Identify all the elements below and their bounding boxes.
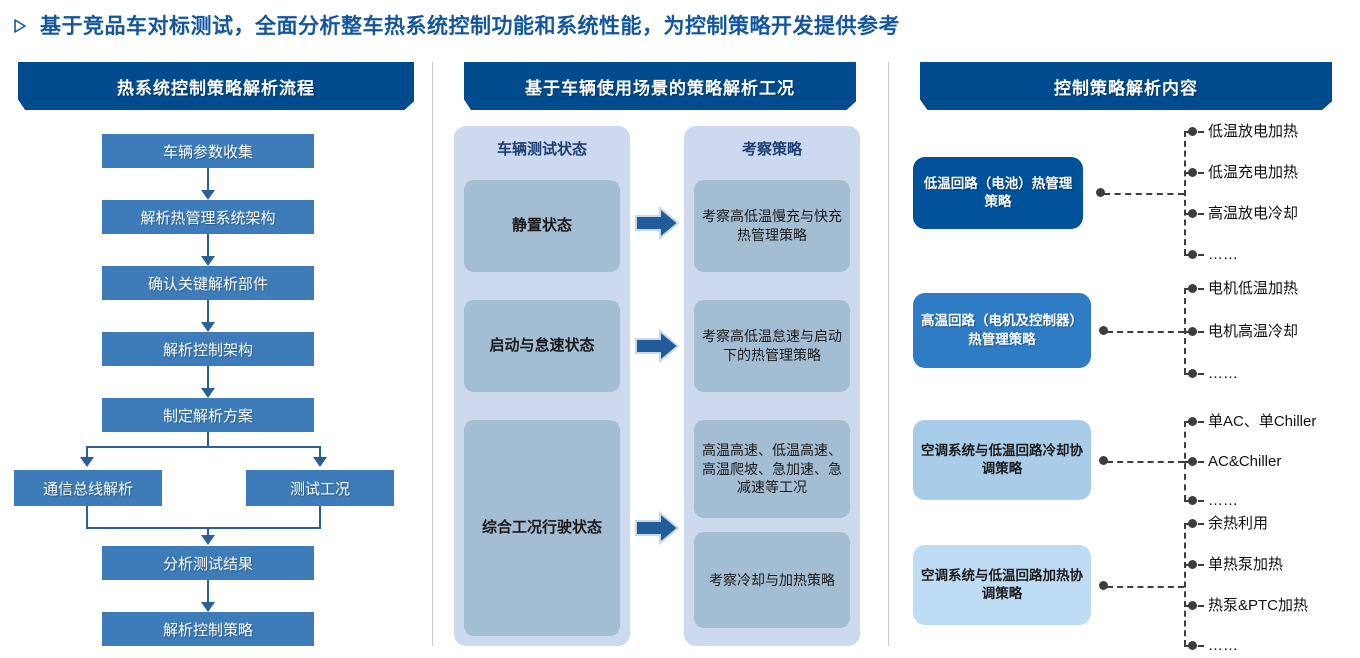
strategy-cell-1-1-label: 考察高低温慢充与快充热管理策略 bbox=[702, 207, 842, 245]
flow-step-5[interactable]: 制定解析方案 bbox=[102, 398, 314, 432]
strategy-node-3-leafdot-2 bbox=[1188, 457, 1197, 466]
flow-step-2[interactable]: 解析热管理系统架构 bbox=[102, 200, 314, 234]
strategy-leaf-4-3: 热泵&PTC加热 bbox=[1208, 598, 1308, 613]
block-arrow-right-icon-2 bbox=[634, 328, 680, 369]
strategy-leaf-4-1: 余热利用 bbox=[1208, 516, 1268, 531]
strategy-leaf-2-1: 电机低温加热 bbox=[1208, 281, 1298, 296]
flow-step-2-label: 解析热管理系统架构 bbox=[140, 207, 275, 228]
strategy-node-3-leafdot-3 bbox=[1188, 496, 1197, 505]
strategy-leaf-3-2: AC&Chiller bbox=[1208, 454, 1281, 469]
divider-middle-right bbox=[888, 62, 889, 646]
flow-tail-1-label: 分析测试结果 bbox=[163, 553, 253, 574]
flow-merge-bar bbox=[86, 527, 321, 529]
state-cell-1[interactable]: 静置状态 bbox=[464, 180, 620, 272]
state-cell-2[interactable]: 启动与怠速状态 bbox=[464, 300, 620, 392]
strategy-cell-3-2-label: 考察冷却与加热策略 bbox=[709, 571, 835, 590]
flow-branch-1-label: 通信总线解析 bbox=[43, 478, 133, 499]
flow-merge-right bbox=[319, 506, 321, 528]
strategy-node-3-stem bbox=[1107, 461, 1184, 463]
strategy-node-2-stem bbox=[1107, 331, 1184, 333]
strategy-leaf-1-2: 低温充电加热 bbox=[1208, 165, 1298, 180]
strategy-node-1-leafdot-4 bbox=[1188, 250, 1197, 259]
strategy-node-1-leafdot-3 bbox=[1188, 209, 1197, 218]
strategy-node-1-label: 低温回路（电池）热管理策略 bbox=[921, 175, 1075, 211]
strategy-leaf-4-4: …… bbox=[1208, 638, 1238, 653]
flow-step-1[interactable]: 车辆参数收集 bbox=[102, 134, 314, 168]
strategy-node-4-spine bbox=[1184, 523, 1186, 646]
flow-arrowhead-right bbox=[313, 457, 327, 467]
strategy-cell-2-1[interactable]: 考察高低温怠速与启动下的热管理策略 bbox=[694, 300, 850, 392]
strategy-node-1[interactable]: 低温回路（电池）热管理策略 bbox=[913, 157, 1083, 229]
strategy-leaf-1-1: 低温放电加热 bbox=[1208, 124, 1298, 139]
state-cell-3-label: 综合工况行驶状态 bbox=[482, 518, 602, 538]
strategy-cell-3-1-label: 高温高速、低温高速、高温爬坡、急加速、急减速等工况 bbox=[702, 441, 842, 498]
divider-left-middle bbox=[432, 62, 433, 646]
left-column-banner: 热系统控制策略解析流程 bbox=[18, 62, 414, 110]
strategy-panel-header: 考察策略 bbox=[684, 138, 860, 159]
strategy-node-2-leafdot-1 bbox=[1188, 284, 1197, 293]
strategy-leaf-2-2: 电机高温冷却 bbox=[1208, 324, 1298, 339]
strategy-cell-2-1-label: 考察高低温怠速与启动下的热管理策略 bbox=[702, 327, 842, 365]
arrow-bullet-icon bbox=[12, 17, 30, 35]
strategy-leaf-4-2: 单热泵加热 bbox=[1208, 557, 1283, 572]
flow-step-5-label: 制定解析方案 bbox=[163, 405, 253, 426]
strategy-node-2[interactable]: 高温回路（电机及控制器）热管理策略 bbox=[913, 293, 1091, 368]
right-banner-text: 控制策略解析内容 bbox=[1054, 74, 1198, 99]
flow-arrowhead-3 bbox=[201, 322, 215, 332]
strategy-node-1-leafdot-1 bbox=[1188, 127, 1197, 136]
strategy-leaf-2-3: …… bbox=[1208, 366, 1238, 381]
flow-step-3-label: 确认关键解析部件 bbox=[148, 273, 268, 294]
state-cell-3[interactable]: 综合工况行驶状态 bbox=[464, 420, 620, 636]
right-column-banner: 控制策略解析内容 bbox=[920, 62, 1332, 110]
strategy-node-4[interactable]: 空调系统与低温回路加热协调策略 bbox=[913, 545, 1091, 625]
flow-arrowhead-5 bbox=[201, 602, 215, 612]
flow-arrowhead-1 bbox=[201, 190, 215, 200]
strategy-node-2-leafdot-3 bbox=[1188, 369, 1197, 378]
flow-tail-2-label: 解析控制策略 bbox=[163, 619, 253, 640]
strategy-node-1-leafdot-2 bbox=[1188, 168, 1197, 177]
middle-column-banner: 基于车辆使用场景的策略解析工况 bbox=[464, 62, 856, 110]
strategy-node-2-leafdot-2 bbox=[1188, 327, 1197, 336]
strategy-node-2-label: 高温回路（电机及控制器）热管理策略 bbox=[921, 312, 1083, 348]
flow-step-4-label: 解析控制架构 bbox=[163, 339, 253, 360]
strategy-node-4-leafdot-4 bbox=[1188, 641, 1197, 650]
flow-step-1-label: 车辆参数收集 bbox=[163, 141, 253, 162]
page-title-text: 基于竞品车对标测试，全面分析整车热系统控制功能和系统性能，为控制策略开发提供参考 bbox=[40, 10, 900, 40]
flow-arrowhead-4 bbox=[201, 388, 215, 398]
state-cell-2-label: 启动与怠速状态 bbox=[489, 336, 594, 356]
flow-merge-left bbox=[86, 506, 88, 528]
flow-tail-1[interactable]: 分析测试结果 bbox=[102, 546, 314, 580]
strategy-leaf-1-4: …… bbox=[1208, 247, 1238, 262]
state-cell-1-label: 静置状态 bbox=[512, 216, 572, 236]
strategy-node-3-label: 空调系统与低温回路冷却协调策略 bbox=[921, 442, 1083, 478]
strategy-cell-3-1[interactable]: 高温高速、低温高速、高温爬坡、急加速、急减速等工况 bbox=[694, 420, 850, 518]
block-arrow-right-icon-3 bbox=[634, 510, 680, 551]
page-title: 基于竞品车对标测试，全面分析整车热系统控制功能和系统性能，为控制策略开发提供参考 bbox=[12, 6, 1352, 44]
strategy-leaf-3-1: 单AC、单Chiller bbox=[1208, 414, 1316, 429]
strategy-node-4-leafdot-1 bbox=[1188, 519, 1197, 528]
strategy-node-1-spine bbox=[1184, 131, 1186, 255]
block-arrow-right-icon-1 bbox=[634, 205, 680, 246]
strategy-leaf-1-3: 高温放电冷却 bbox=[1208, 206, 1298, 221]
strategy-node-4-leafdot-3 bbox=[1188, 601, 1197, 610]
strategy-leaf-3-3: …… bbox=[1208, 493, 1238, 508]
strategy-node-1-stem bbox=[1104, 193, 1184, 195]
left-banner-text: 热系统控制策略解析流程 bbox=[117, 74, 315, 99]
flow-arrowhead-2 bbox=[201, 256, 215, 266]
flow-branch-2[interactable]: 测试工况 bbox=[246, 470, 394, 506]
middle-banner-text: 基于车辆使用场景的策略解析工况 bbox=[525, 74, 795, 99]
strategy-node-3-leafdot-1 bbox=[1188, 417, 1197, 426]
strategy-cell-3-2[interactable]: 考察冷却与加热策略 bbox=[694, 532, 850, 628]
strategy-cell-1-1[interactable]: 考察高低温慢充与快充热管理策略 bbox=[694, 180, 850, 272]
strategy-node-4-leafdot-2 bbox=[1188, 560, 1197, 569]
flow-branch-1[interactable]: 通信总线解析 bbox=[14, 470, 162, 506]
strategy-node-4-stem bbox=[1107, 586, 1184, 588]
flow-step-3[interactable]: 确认关键解析部件 bbox=[102, 266, 314, 300]
flow-arrowhead-merge bbox=[201, 535, 215, 545]
flow-step-4[interactable]: 解析控制架构 bbox=[102, 332, 314, 366]
flow-branch-2-label: 测试工况 bbox=[290, 478, 350, 499]
flow-tail-2[interactable]: 解析控制策略 bbox=[102, 612, 314, 646]
flow-split-bar bbox=[86, 446, 321, 448]
flow-arrowhead-left bbox=[80, 457, 94, 467]
strategy-node-4-label: 空调系统与低温回路加热协调策略 bbox=[921, 567, 1083, 603]
strategy-node-3[interactable]: 空调系统与低温回路冷却协调策略 bbox=[913, 420, 1091, 500]
state-panel-header: 车辆测试状态 bbox=[454, 138, 630, 159]
